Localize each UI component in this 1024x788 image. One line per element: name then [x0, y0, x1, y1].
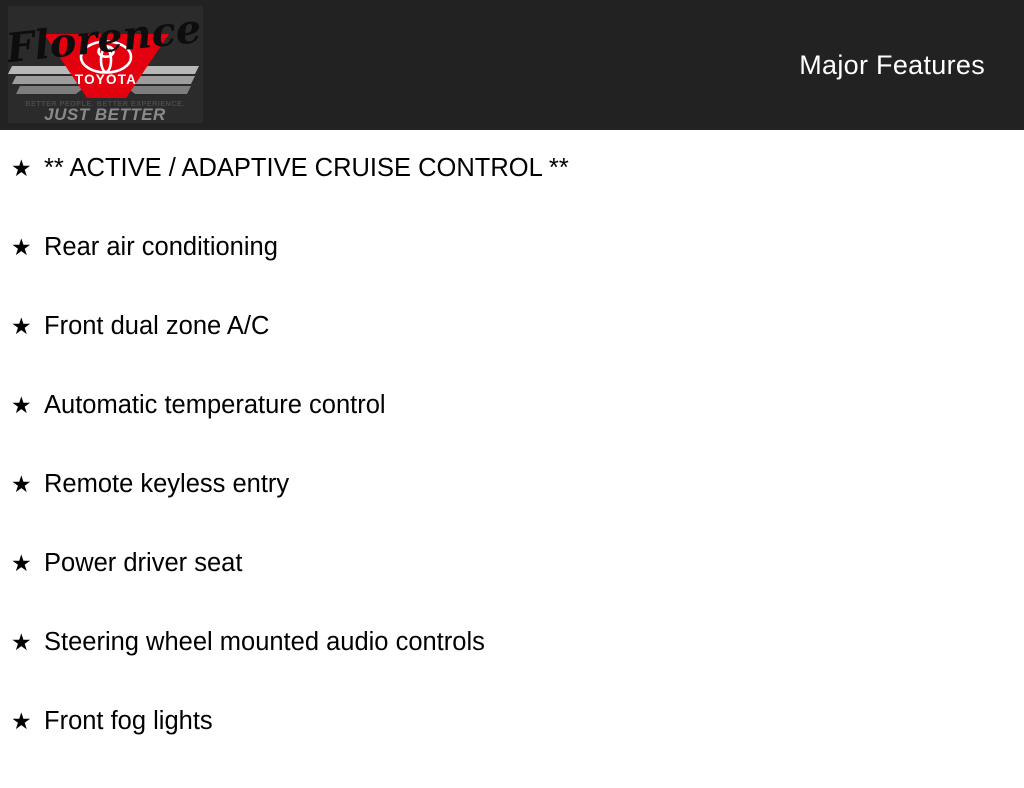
dealer-logo: TOYOTA Florence BETTER PEOPLE. BETTER EX…: [8, 6, 203, 123]
florence-toyota-logo-icon: TOYOTA Florence BETTER PEOPLE. BETTER EX…: [8, 6, 203, 123]
star-bullet-icon: ★: [11, 473, 44, 496]
list-item: ★ Front fog lights: [0, 709, 1024, 788]
list-item: ★ Power driver seat: [0, 551, 1024, 630]
list-item: ★ Steering wheel mounted audio controls: [0, 630, 1024, 709]
feature-label: Automatic temperature control: [44, 393, 386, 419]
feature-label: ** ACTIVE / ADAPTIVE CRUISE CONTROL **: [44, 156, 569, 182]
list-item: ★ ** ACTIVE / ADAPTIVE CRUISE CONTROL **: [0, 156, 1024, 235]
star-bullet-icon: ★: [11, 394, 44, 417]
svg-text:JUST BETTER: JUST BETTER: [44, 105, 166, 123]
star-bullet-icon: ★: [11, 710, 44, 733]
svg-text:TOYOTA: TOYOTA: [75, 72, 137, 87]
feature-label: Front dual zone A/C: [44, 314, 269, 340]
page-header: TOYOTA Florence BETTER PEOPLE. BETTER EX…: [0, 0, 1024, 130]
list-item: ★ Remote keyless entry: [0, 472, 1024, 551]
star-bullet-icon: ★: [11, 236, 44, 259]
star-bullet-icon: ★: [11, 315, 44, 338]
feature-label: Rear air conditioning: [44, 235, 278, 261]
star-bullet-icon: ★: [11, 157, 44, 180]
feature-label: Remote keyless entry: [44, 472, 289, 498]
star-bullet-icon: ★: [11, 552, 44, 575]
list-item: ★ Automatic temperature control: [0, 393, 1024, 472]
feature-label: Front fog lights: [44, 709, 213, 735]
list-item: ★ Rear air conditioning: [0, 235, 1024, 314]
page-title: Major Features: [799, 0, 985, 130]
feature-label: Steering wheel mounted audio controls: [44, 630, 485, 656]
feature-label: Power driver seat: [44, 551, 242, 577]
list-item: ★ Front dual zone A/C: [0, 314, 1024, 393]
star-bullet-icon: ★: [11, 631, 44, 654]
major-features-list: ★ ** ACTIVE / ADAPTIVE CRUISE CONTROL **…: [0, 130, 1024, 788]
